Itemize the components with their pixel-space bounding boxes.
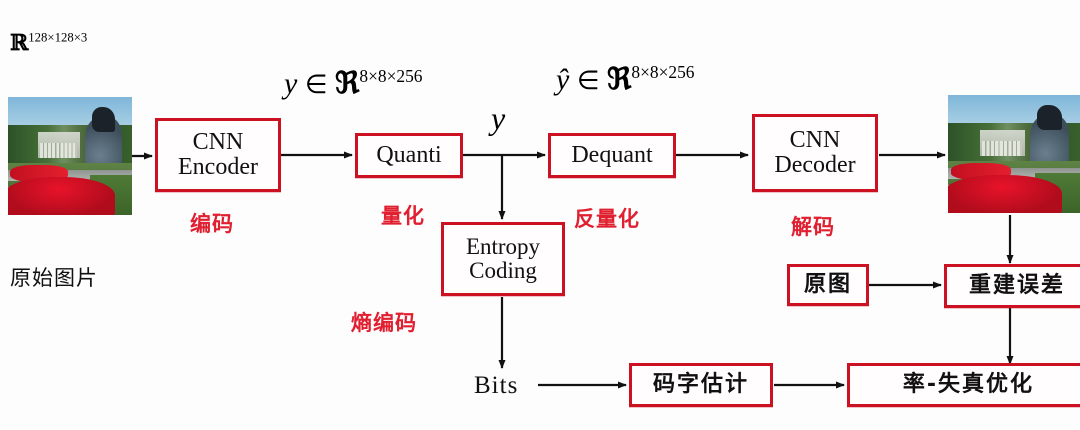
- box-reconstruction-error-label: 重建误差: [969, 273, 1065, 298]
- photo-tulips: [8, 177, 115, 215]
- branch-y-symbol: y: [491, 100, 505, 137]
- yhat-exponent: 8×8×256: [631, 62, 694, 82]
- blackboard-R-icon: ℝ: [10, 30, 28, 56]
- box-dequant-line1: Dequant: [571, 142, 652, 168]
- box-entropy-coding[interactable]: Entropy Coding: [441, 222, 565, 296]
- latent-yhat-annotation: ŷ ∈ ℜ8×8×256: [556, 62, 695, 97]
- label-decode: 解码: [791, 211, 835, 241]
- photo-tulips: [948, 175, 1062, 213]
- box-original-image-text: 原图: [800, 273, 856, 296]
- box-codeword-estimation-text: 码字估计: [649, 373, 753, 396]
- box-cnn-encoder-line1: CNN: [193, 129, 244, 155]
- box-rate-distortion-optimization[interactable]: 率-失真优化: [847, 363, 1080, 407]
- box-dequant-text: Dequant: [567, 143, 656, 168]
- box-cnn-encoder-line2: Encoder: [178, 154, 258, 180]
- element-of-icon: ∈: [305, 70, 328, 99]
- box-dequant[interactable]: Dequant: [548, 133, 676, 178]
- box-codeword-estimation-label: 码字估计: [653, 372, 749, 397]
- box-entropy-coding-text: Entropy Coding: [462, 235, 544, 283]
- label-encode: 编码: [190, 208, 234, 238]
- bits-label: Bits: [474, 372, 518, 400]
- box-quanti[interactable]: Quanti: [355, 133, 463, 178]
- box-cnn-encoder-text: CNN Encoder: [174, 130, 262, 180]
- box-codeword-estimation[interactable]: 码字估计: [629, 363, 773, 407]
- box-cnn-decoder[interactable]: CNN Decoder: [752, 114, 878, 192]
- box-quanti-line1: Quanti: [376, 142, 441, 168]
- y-hat-symbol: ŷ: [556, 63, 569, 96]
- diagram-canvas: CNN Encoder Quanti Dequant CNN Decoder E…: [0, 0, 1080, 430]
- box-reconstruction-error-text: 重建误差: [965, 274, 1069, 297]
- input-shape-annotation: ℝ128×128×3: [10, 30, 87, 56]
- box-original-image[interactable]: 原图: [787, 264, 869, 306]
- box-cnn-decoder-line1: CNN: [790, 127, 841, 153]
- box-cnn-decoder-line2: Decoder: [774, 152, 855, 178]
- box-original-image-label: 原图: [804, 272, 852, 297]
- label-quantize: 量化: [381, 200, 425, 230]
- box-quanti-text: Quanti: [372, 143, 445, 168]
- y-symbol: y: [284, 67, 297, 100]
- box-rate-distortion-optimization-text: 率-失真优化: [899, 373, 1038, 396]
- y-exponent: 8×8×256: [359, 66, 422, 86]
- output-photo: [948, 95, 1080, 213]
- photo-building: [980, 130, 1025, 156]
- box-rd-label: 率-失真优化: [903, 372, 1034, 397]
- label-entropy-coding: 熵编码: [351, 307, 417, 337]
- box-cnn-decoder-text: CNN Decoder: [770, 128, 859, 178]
- element-of-icon: ∈: [577, 66, 600, 95]
- photo-building: [38, 132, 80, 158]
- box-cnn-encoder[interactable]: CNN Encoder: [155, 118, 281, 192]
- latent-y-annotation: y ∈ ℜ8×8×256: [284, 66, 423, 101]
- y-symbol: y: [491, 100, 505, 136]
- fraktur-R-icon: ℜ: [335, 66, 359, 101]
- original-photo-caption: 原始图片: [10, 262, 98, 292]
- box-entropy-coding-line1: Entropy: [466, 234, 540, 259]
- input-photo: [8, 97, 132, 215]
- box-reconstruction-error[interactable]: 重建误差: [944, 264, 1080, 308]
- input-shape-exponent: 128×128×3: [28, 31, 87, 45]
- label-dequantize: 反量化: [574, 203, 640, 233]
- box-entropy-coding-line2: Coding: [469, 258, 537, 283]
- fraktur-R-icon: ℜ: [607, 62, 631, 97]
